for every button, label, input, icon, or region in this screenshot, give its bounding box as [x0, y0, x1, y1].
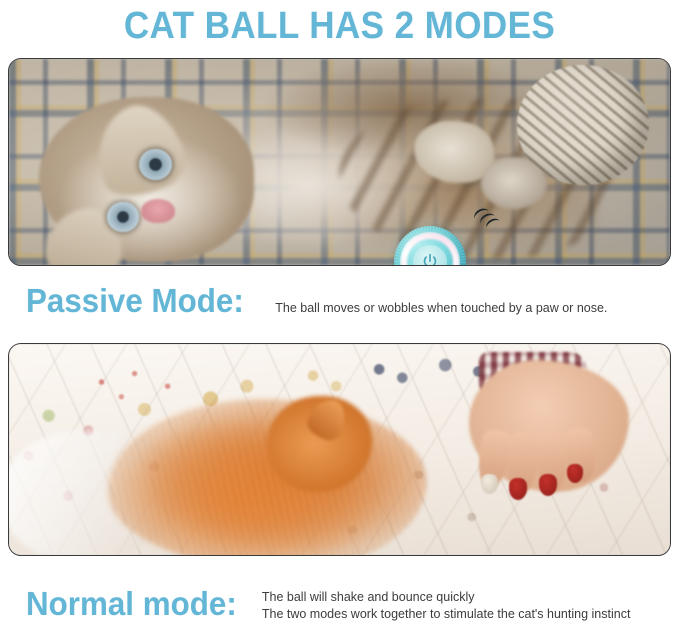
kitten-ear-left: [82, 94, 195, 208]
mode-description-line: The ball moves or wobbles when touched b…: [275, 300, 607, 317]
kitten-eye-lower: [107, 202, 139, 232]
kitten-eye-upper: [139, 149, 172, 180]
kitten-nose: [141, 199, 175, 223]
smart-ball-passive: [394, 226, 466, 265]
mode-row-passive: Passive Mode: The ball moves or wobbles …: [26, 283, 607, 319]
motion-lines-right: [472, 205, 500, 239]
page-title: CAT BALL HAS 2 MODES: [27, 4, 652, 48]
tabby-kitten-head: [39, 97, 254, 262]
photo-passive-mode: [8, 58, 671, 266]
mode-description-line: The two modes work together to stimulate…: [262, 606, 631, 623]
mode-row-normal: Normal mode: The ball will shake and bou…: [26, 586, 630, 622]
power-icon: [420, 252, 440, 265]
mode-label-normal: Normal mode:: [26, 586, 237, 622]
mode-label-passive: Passive Mode:: [26, 283, 244, 319]
photo-normal-mode: [8, 343, 671, 556]
scene-plaid-blanket: [9, 59, 670, 265]
infographic-page: CAT BALL HAS 2 MODES: [0, 0, 679, 630]
scene-floral-sheet: [9, 344, 670, 555]
mode-description-line: The ball will shake and bounce quickly: [262, 589, 631, 606]
yarn-ball: [517, 65, 649, 185]
mode-description-normal: The ball will shake and bounce quickly T…: [262, 589, 631, 622]
mode-description-passive: The ball moves or wobbles when touched b…: [275, 300, 607, 320]
